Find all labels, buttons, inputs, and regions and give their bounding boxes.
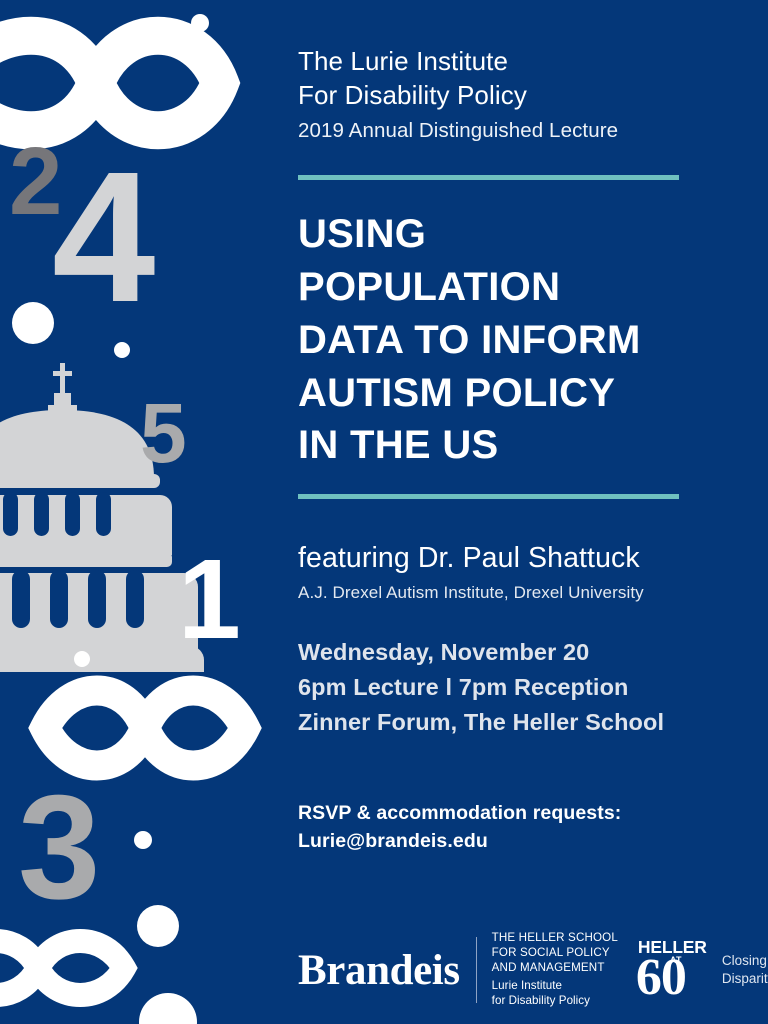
numeral-1: 1 (178, 536, 239, 662)
infinity-icon-middle (45, 691, 245, 766)
heller-at-60-lockup: HELLER AT 60 Closing the Disparity Gap (634, 935, 768, 1005)
divider-rule-top (298, 175, 679, 180)
event-date: Wednesday, November 20 (298, 635, 768, 670)
institute-name: The Lurie Institute For Disability Polic… (298, 44, 768, 113)
dot-icon (12, 302, 54, 344)
event-details: Wednesday, November 20 6pm Lecture l 7pm… (298, 635, 768, 741)
lurie-sublabel-line-1: Lurie Institute (492, 979, 618, 994)
infinity-icon-bottom (0, 941, 124, 995)
content-column: The Lurie Institute For Disability Polic… (298, 0, 768, 1024)
headline-line-1: USING (298, 208, 768, 261)
heller-school-line-1: THE HELLER SCHOOL (492, 931, 618, 946)
lurie-sublabel-line-2: for Disability Policy (492, 994, 618, 1009)
headline-line-5: IN THE US (298, 419, 768, 472)
headline-line-2: POPULATION (298, 261, 768, 314)
dot-icon (137, 905, 179, 947)
divider-rule-bottom (298, 494, 679, 499)
heller-60-number: 60 (636, 952, 686, 1004)
event-times: 6pm Lecture l 7pm Reception (298, 670, 768, 705)
headline-line-4: AUTISM POLICY (298, 367, 768, 420)
dot-icon (114, 342, 130, 358)
dot-icon (134, 831, 152, 849)
rsvp-email[interactable]: Lurie@brandeis.edu (298, 828, 768, 856)
heller-school-lockup: THE HELLER SCHOOL FOR SOCIAL POLICY AND … (477, 931, 628, 1009)
heller-school-line-3: AND MANAGEMENT (492, 961, 618, 976)
heller-60-tagline-line-1: Closing the (722, 952, 768, 970)
footer-logo-bar: Brandeis THE HELLER SCHOOL FOR SOCIAL PO… (298, 928, 760, 1012)
headline-line-3: DATA TO INFORM (298, 314, 768, 367)
numeral-3: 3 (18, 765, 96, 930)
heller-60-tagline: Closing the Disparity Gap (722, 952, 768, 987)
speaker-name: featuring Dr. Paul Shattuck (298, 541, 768, 575)
dot-icon (74, 651, 90, 667)
event-location: Zinner Forum, The Heller School (298, 705, 768, 740)
heller-at-60-logo: HELLER AT 60 (634, 935, 720, 1005)
decorative-art-column: 2 4 (0, 0, 290, 1024)
infinity-icon-top (0, 36, 220, 131)
rsvp-label: RSVP & accommodation requests: (298, 800, 768, 828)
heller-school-line-2: FOR SOCIAL POLICY (492, 946, 618, 961)
heller-60-tagline-line-2: Disparity Gap (722, 970, 768, 988)
numeral-4: 4 (52, 134, 155, 341)
lecture-series-label: 2019 Annual Distinguished Lecture (298, 117, 768, 145)
page-title: USING POPULATION DATA TO INFORM AUTISM P… (298, 208, 768, 472)
decor-illustration: 2 4 (0, 0, 290, 1024)
speaker-affiliation: A.J. Drexel Autism Institute, Drexel Uni… (298, 582, 768, 603)
brandeis-wordmark: Brandeis (298, 949, 476, 992)
numeral-5: 5 (140, 386, 185, 480)
dot-icon (191, 14, 209, 32)
institute-name-line-1: The Lurie Institute (298, 44, 768, 78)
lurie-institute-sublabel: Lurie Institute for Disability Policy (492, 979, 618, 1008)
institute-name-line-2: For Disability Policy (298, 78, 768, 112)
dot-icon (139, 993, 197, 1024)
poster-root: 2 4 (0, 0, 768, 1024)
rsvp-block: RSVP & accommodation requests: Lurie@bra… (298, 800, 768, 855)
heller-school-name: THE HELLER SCHOOL FOR SOCIAL POLICY AND … (492, 931, 618, 975)
